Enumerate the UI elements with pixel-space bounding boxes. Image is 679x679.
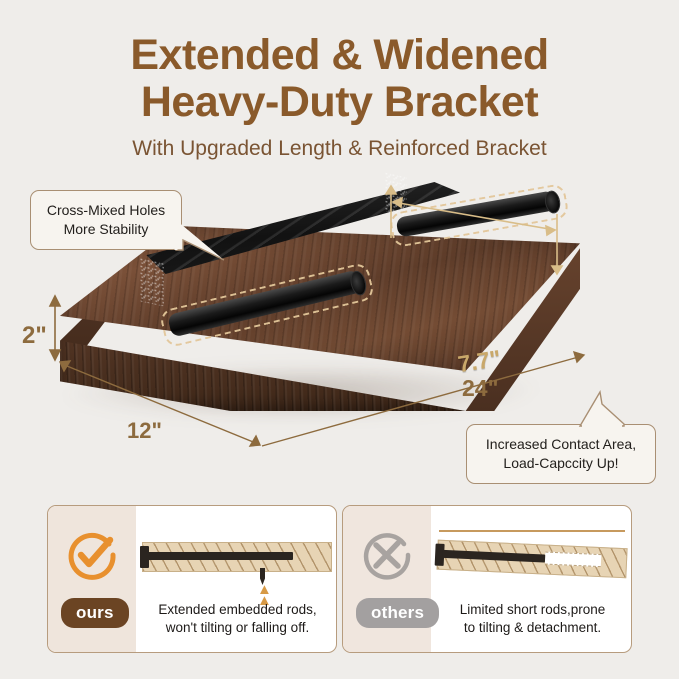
callout-cross-mixed-holes: Cross-Mixed Holes More Stability (30, 190, 182, 250)
page-title: Extended & Widened Heavy-Duty Bracket (0, 32, 679, 126)
callout-right-tail (572, 390, 634, 432)
comparison-panel-others: others Limited short rods,prone to tilti… (342, 505, 632, 653)
thickness-label: 2" (22, 322, 47, 350)
comparison-panel-ours: ours ▲▲ Extended embedded rods, won't ti… (47, 505, 337, 653)
bracket-end-tab-right (385, 172, 407, 217)
badge-ours: ours (61, 598, 129, 628)
page-subtitle: With Upgraded Length & Reinforced Bracke… (0, 136, 679, 162)
diagram-short-rod (435, 524, 629, 596)
x-circle-icon (360, 528, 414, 582)
callout-increased-contact-area: Increased Contact Area, Load-Capccity Up… (466, 424, 656, 484)
panel-others-text: Limited short rods,prone to tilting & de… (435, 601, 630, 637)
embedded-rod-ours (147, 552, 293, 560)
check-circle-icon (65, 528, 119, 582)
bracket-end-tab-left (140, 257, 164, 306)
diagram-extended-rod: ▲▲ (140, 524, 334, 596)
tilted-plank-group-others (436, 534, 630, 587)
panel-ours-text: Extended embedded rods, won't tilting or… (140, 601, 335, 637)
infographic-stage: Extended & Widened Heavy-Duty Bracket Wi… (0, 0, 679, 679)
badge-others: others (356, 598, 439, 628)
callout-left-tail (174, 218, 232, 264)
empty-gap-others (545, 552, 602, 568)
width-label: 24" (462, 375, 499, 402)
depth-label: 12" (127, 418, 162, 444)
wall-line-others (439, 530, 625, 532)
